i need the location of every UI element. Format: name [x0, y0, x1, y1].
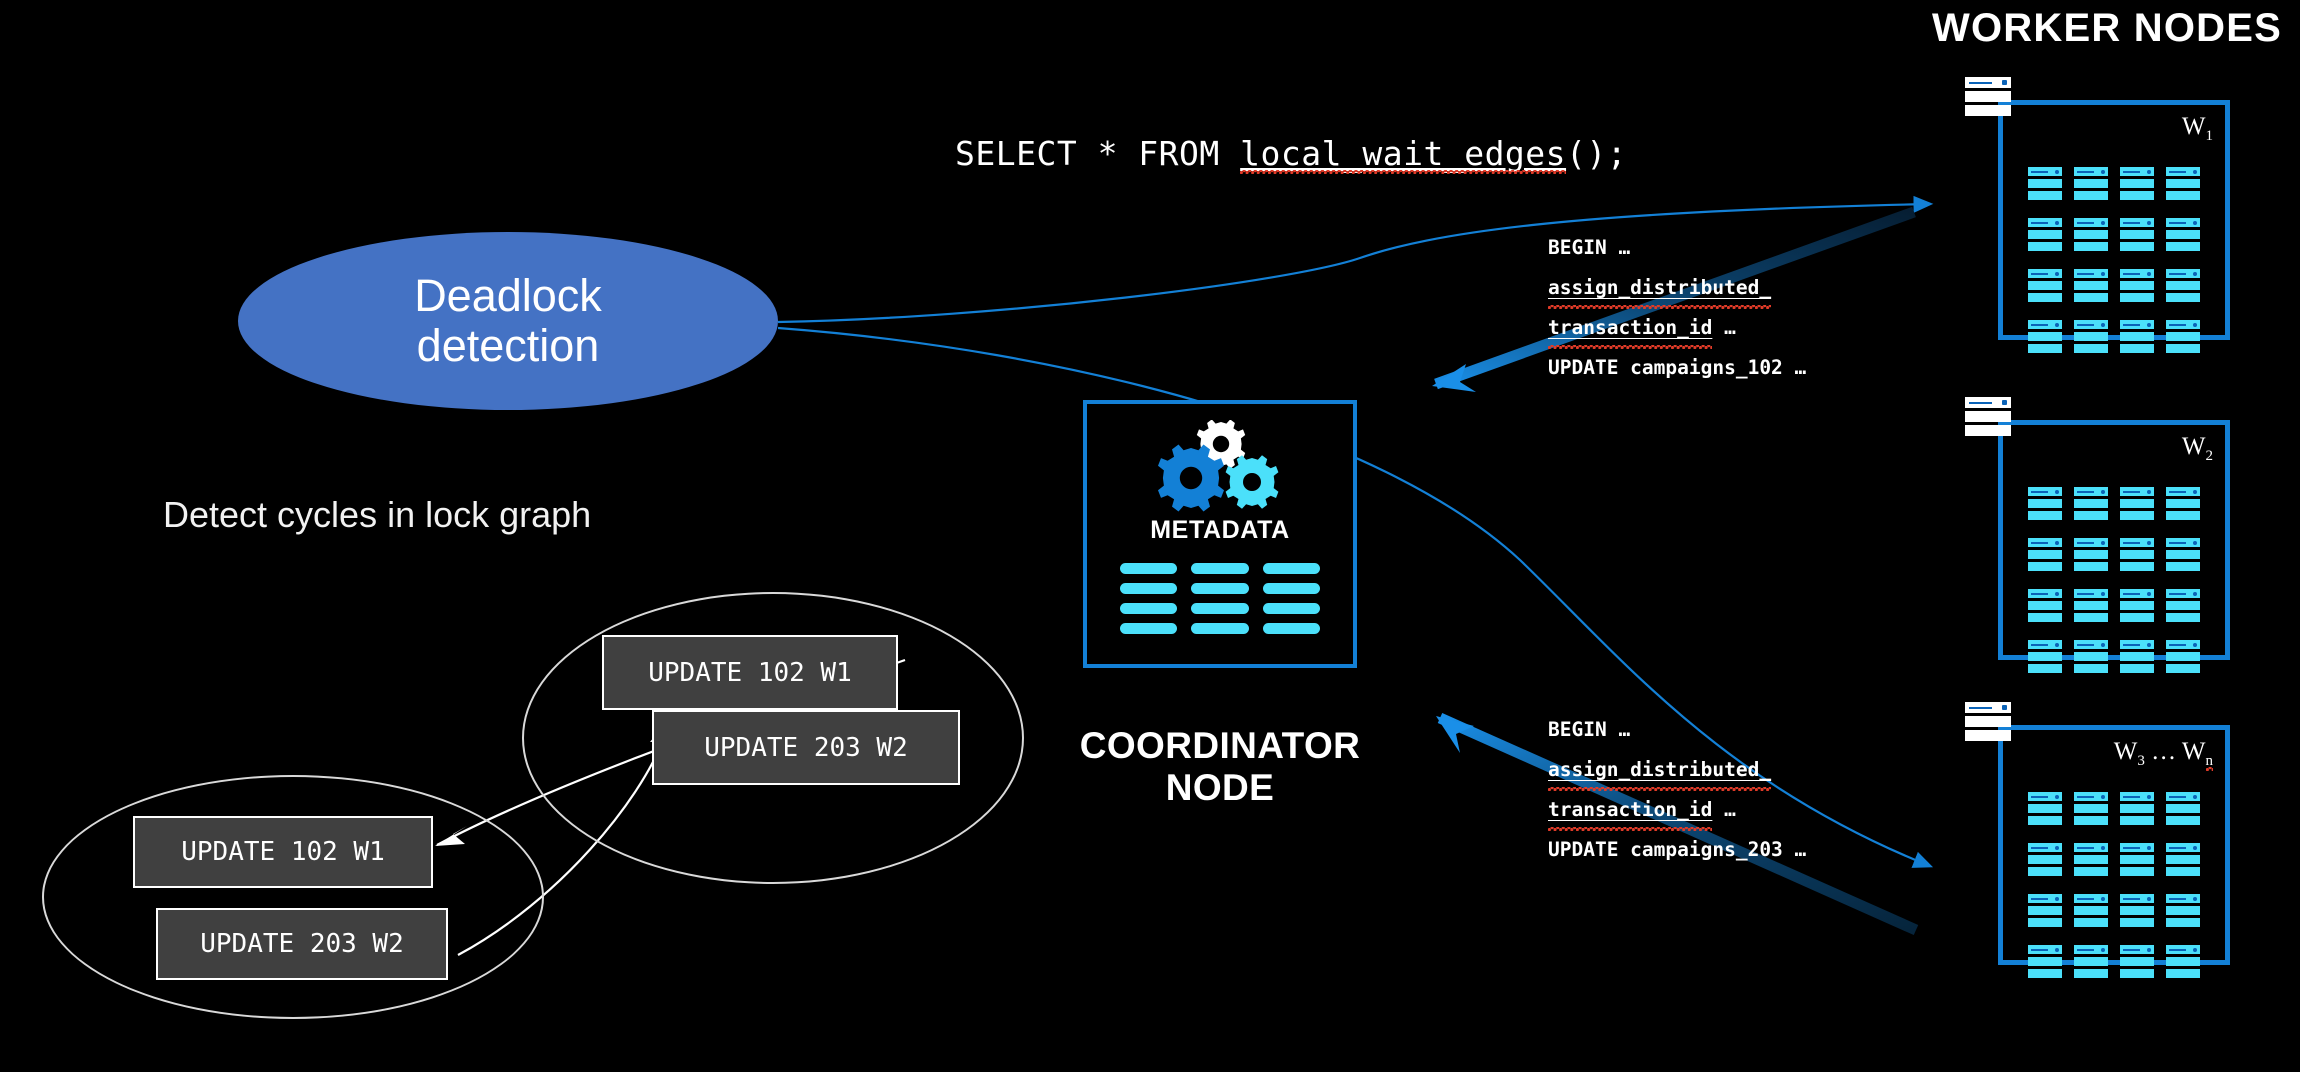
- detect-cycles-caption: Detect cycles in lock graph: [163, 494, 591, 536]
- worker-node-2: W2: [1998, 420, 2230, 660]
- shard-grid: [2028, 792, 2200, 981]
- arrowhead-worker1-to-coordinator: [1432, 364, 1476, 392]
- code-line: transaction_id …: [1548, 790, 1806, 830]
- shard-icon: [2074, 843, 2108, 879]
- shard-icon: [2120, 843, 2154, 879]
- shard-icon: [2120, 945, 2154, 981]
- shard-grid: [2028, 167, 2200, 356]
- deadlock-title-line1: Deadlock: [414, 271, 602, 321]
- server-stack-icon: [1965, 702, 2011, 744]
- shard-icon: [2120, 538, 2154, 574]
- shard-icon: [2120, 894, 2154, 930]
- code-line-text: BEGIN …: [1548, 718, 1630, 741]
- shard-icon: [2166, 320, 2200, 356]
- code-line: transaction_id …: [1548, 308, 1806, 348]
- shard-icon: [2120, 792, 2154, 828]
- lock-node-lower-2: UPDATE 203 W2: [156, 908, 448, 980]
- shard-icon: [2028, 894, 2062, 930]
- worker-label-index: 2: [2206, 448, 2214, 464]
- lock-node-lower-1: UPDATE 102 W1: [133, 816, 433, 888]
- worker-label-letter: W: [2114, 738, 2138, 765]
- shard-icon: [2028, 792, 2062, 828]
- code-line-text: assign_distributed_: [1548, 750, 1771, 790]
- worker-label-index-n: n: [2206, 753, 2214, 770]
- code-line: BEGIN …: [1548, 710, 1806, 750]
- shard-icon: [2074, 487, 2108, 523]
- slide-canvas: WORKER NODES COORDINATOR NODE Deadlock d…: [0, 0, 2300, 1072]
- shard-icon: [2028, 167, 2062, 203]
- shard-icon: [2028, 589, 2062, 625]
- worker-node-1: W1: [1998, 100, 2230, 340]
- coordinator-metadata-box: METADATA: [1083, 400, 1357, 668]
- server-stack-icon: [1965, 397, 2011, 439]
- lock-node-upper-2: UPDATE 203 W2: [652, 710, 960, 785]
- shard-icon: [2028, 640, 2062, 676]
- shard-icon: [2166, 640, 2200, 676]
- worker-label-range: … W: [2145, 738, 2206, 765]
- shard-icon: [2028, 487, 2062, 523]
- coordinator-node-label-line1: COORDINATOR: [1065, 725, 1375, 767]
- coordinator-node-label-line2: NODE: [1065, 767, 1375, 809]
- shard-icon: [2120, 487, 2154, 523]
- code-line: assign_distributed_: [1548, 268, 1806, 308]
- transaction-code-block-bottom: BEGIN … assign_distributed_ transaction_…: [1548, 710, 1806, 870]
- code-line-text: UPDATE campaigns_102 …: [1548, 356, 1806, 379]
- worker-label-index: 3: [2137, 753, 2145, 769]
- lock-node-upper-1: UPDATE 102 W1: [602, 635, 898, 710]
- code-line: UPDATE campaigns_203 …: [1548, 830, 1806, 870]
- shard-icon: [2166, 538, 2200, 574]
- shard-icon: [2120, 167, 2154, 203]
- shard-icon: [2166, 792, 2200, 828]
- server-stack-icon: [1965, 77, 2011, 119]
- code-line: UPDATE campaigns_102 …: [1548, 348, 1806, 388]
- gears-icon: [1087, 420, 1353, 512]
- code-line-text: transaction_id: [1548, 308, 1712, 348]
- code-line-trailing: …: [1712, 316, 1735, 339]
- deadlock-detection-label: Deadlock detection: [414, 271, 602, 372]
- shard-icon: [2166, 269, 2200, 305]
- shard-icon: [2166, 167, 2200, 203]
- shard-icon: [2074, 945, 2108, 981]
- shard-icon: [2028, 538, 2062, 574]
- shard-icon: [2028, 320, 2062, 356]
- shard-icon: [2120, 640, 2154, 676]
- coordinator-node-label: COORDINATOR NODE: [1065, 725, 1375, 809]
- metadata-label: METADATA: [1087, 516, 1353, 545]
- worker-label-letter: W: [2182, 433, 2206, 460]
- worker-2-label: W2: [2182, 433, 2213, 465]
- worker-label-letter: W: [2182, 113, 2206, 140]
- shard-icon: [2074, 792, 2108, 828]
- shard-icon: [2074, 269, 2108, 305]
- shard-icon: [2074, 320, 2108, 356]
- shard-icon: [2120, 269, 2154, 305]
- shard-grid: [2028, 487, 2200, 676]
- shard-icon: [2074, 167, 2108, 203]
- worker-nodes-title: WORKER NODES: [1932, 6, 2282, 51]
- lock-graph-cycle-lower: [42, 775, 544, 1019]
- sql-query-suffix: ();: [1566, 134, 1627, 173]
- code-line-trailing: …: [1712, 798, 1735, 821]
- sql-query-prefix: SELECT * FROM: [955, 134, 1240, 173]
- shard-icon: [2166, 487, 2200, 523]
- shard-icon: [2074, 589, 2108, 625]
- metadata-rows-graphic: [1120, 563, 1320, 634]
- shard-icon: [2166, 589, 2200, 625]
- code-line-text: UPDATE campaigns_203 …: [1548, 838, 1806, 861]
- shard-icon: [2028, 945, 2062, 981]
- shard-icon: [2074, 640, 2108, 676]
- shard-icon: [2028, 269, 2062, 305]
- code-line-text: transaction_id: [1548, 790, 1712, 830]
- shard-icon: [2074, 894, 2108, 930]
- code-line-text: BEGIN …: [1548, 236, 1630, 259]
- shard-icon: [2166, 218, 2200, 254]
- shard-icon: [2166, 894, 2200, 930]
- worker-label-index: 1: [2206, 128, 2214, 144]
- shard-icon: [2166, 945, 2200, 981]
- shard-icon: [2120, 320, 2154, 356]
- deadlock-detection-ellipse: Deadlock detection: [238, 232, 778, 410]
- shard-icon: [2028, 218, 2062, 254]
- shard-icon: [2166, 843, 2200, 879]
- code-line: BEGIN …: [1548, 228, 1806, 268]
- shard-icon: [2120, 589, 2154, 625]
- worker-node-3-to-n: W3 … Wn: [1998, 725, 2230, 965]
- arrowhead-worker3-to-coordinator: [1436, 716, 1474, 753]
- deadlock-title-line2: detection: [414, 321, 602, 371]
- code-line-text: assign_distributed_: [1548, 268, 1771, 308]
- shard-icon: [2028, 843, 2062, 879]
- shard-icon: [2074, 538, 2108, 574]
- shard-icon: [2120, 218, 2154, 254]
- code-line: assign_distributed_: [1548, 750, 1806, 790]
- sql-query-text: SELECT * FROM local_wait_edges();: [955, 134, 1627, 173]
- sql-function-name: local_wait_edges: [1240, 134, 1566, 173]
- worker-3-to-n-label: W3 … Wn: [2114, 738, 2213, 770]
- transaction-code-block-top: BEGIN … assign_distributed_ transaction_…: [1548, 228, 1806, 388]
- worker-1-label: W1: [2182, 113, 2213, 145]
- shard-icon: [2074, 218, 2108, 254]
